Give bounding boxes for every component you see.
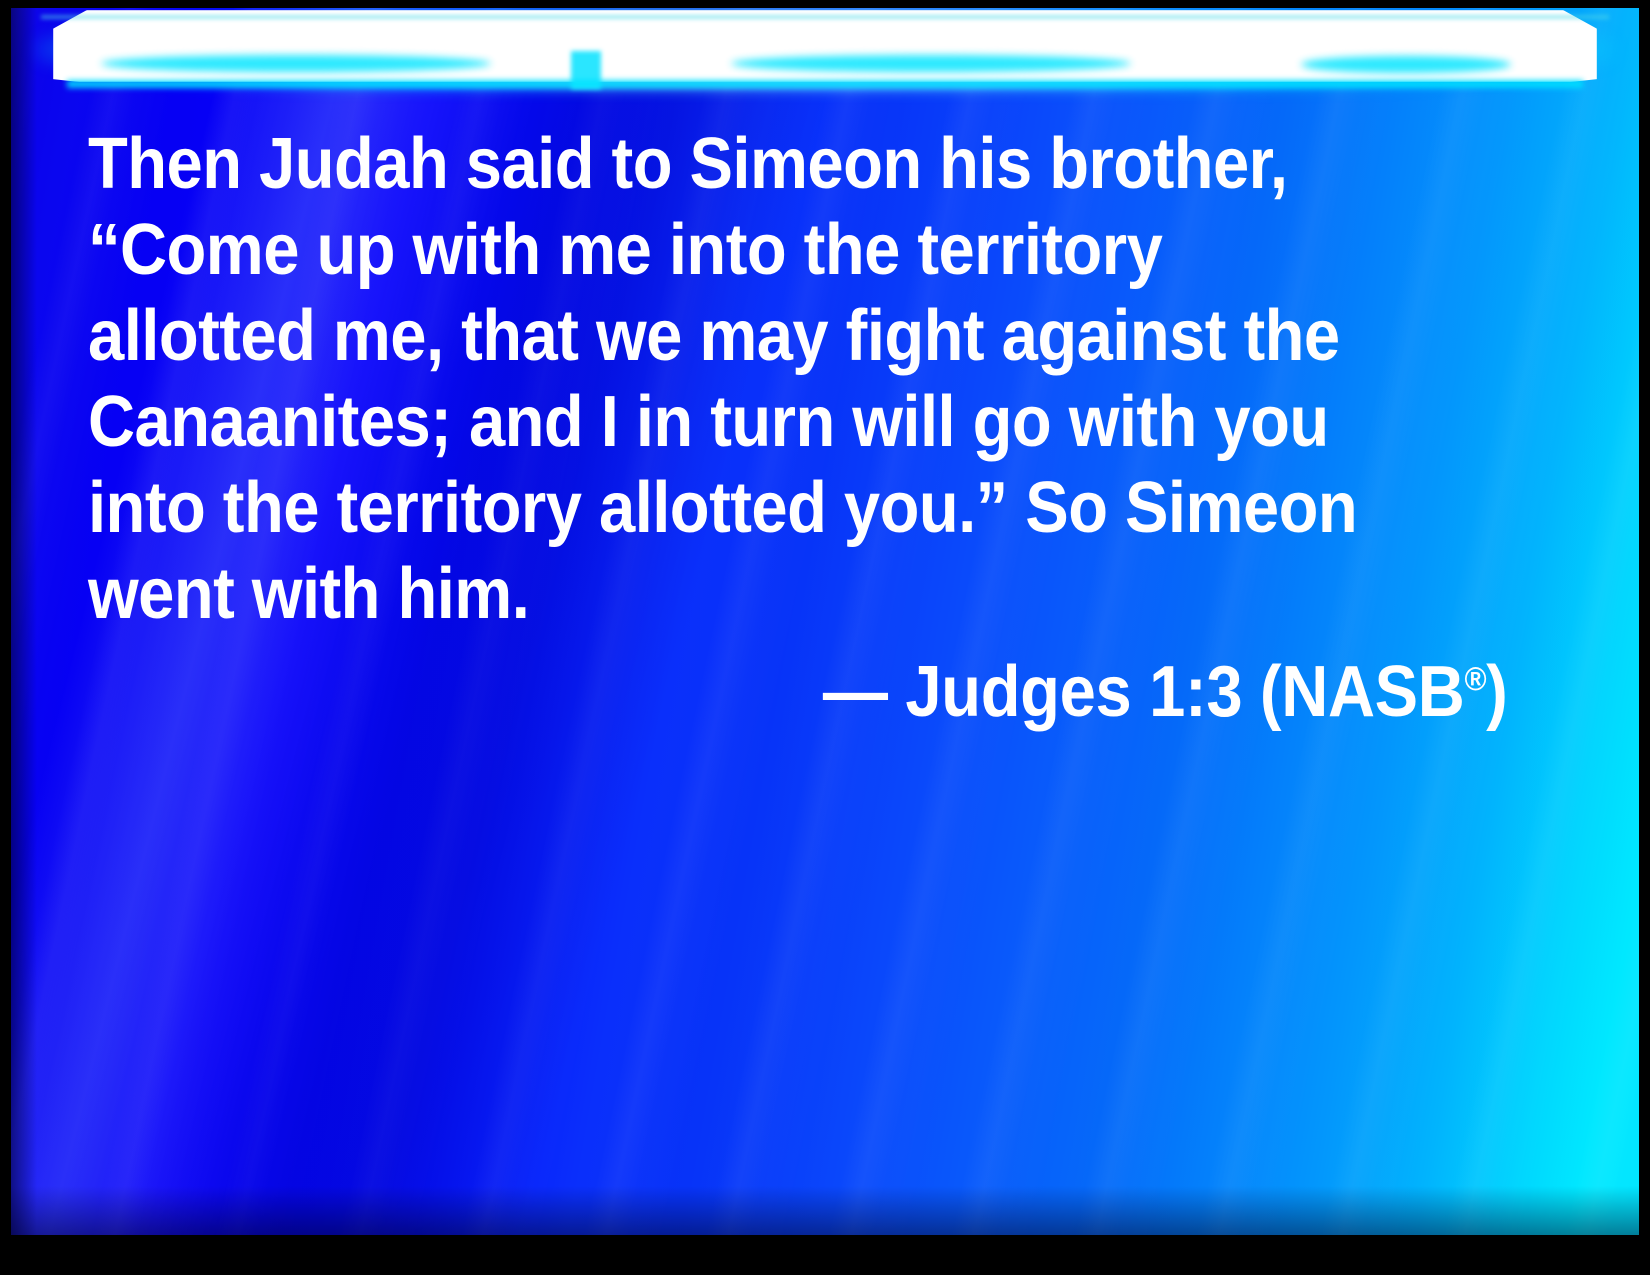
verse-line-1: Then Judah said to Simeon his brother, [88, 121, 1373, 207]
citation-text: — Judges 1:3 (NASB®) [823, 637, 1508, 735]
citation-prefix: — Judges 1:3 (NASB [823, 652, 1465, 732]
scripture-slide: Then Judah said to Simeon his brother, “… [0, 0, 1650, 1275]
verse-line-2: “Come up with me into the territory [88, 207, 1373, 293]
verse-text: Then Judah said to Simeon his brother, “… [88, 121, 1508, 637]
verse-line-6: went with him. [88, 551, 1373, 637]
slide-stage: Then Judah said to Simeon his brother, “… [11, 8, 1639, 1235]
verse-citation: — Judges 1:3 (NASB®) [88, 637, 1508, 735]
verse-line-5: into the territory allotted you.” So Sim… [88, 465, 1373, 551]
citation-suffix: ) [1487, 652, 1508, 732]
registered-trademark-icon: ® [1465, 661, 1487, 698]
verse-line-4: Canaanites; and I in turn will go with y… [88, 379, 1373, 465]
verse-line-3: allotted me, that we may fight against t… [88, 293, 1373, 379]
